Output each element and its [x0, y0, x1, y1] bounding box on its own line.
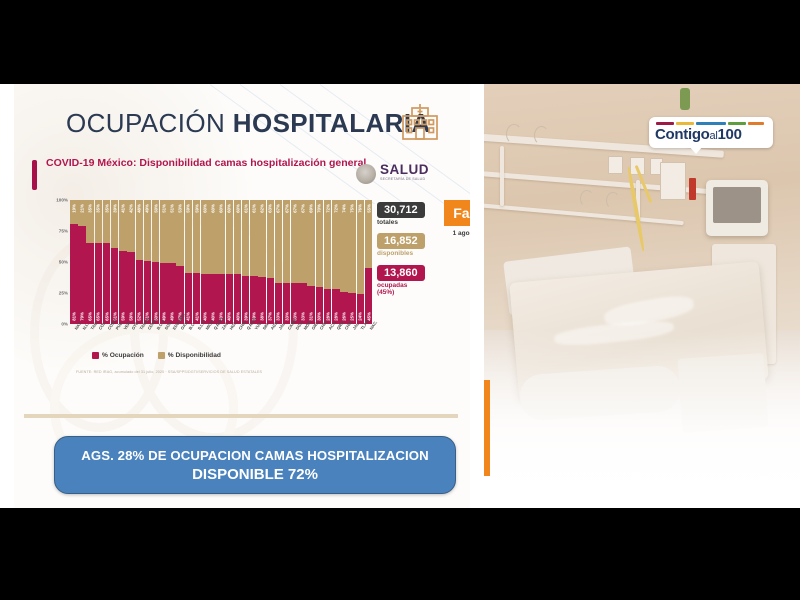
stat-value: 30,712	[377, 202, 425, 218]
bar-segment-disponibilidad: 70%	[316, 200, 324, 287]
bar-value-label: 79%	[79, 312, 84, 321]
bar-column: 70%30%	[316, 200, 324, 324]
bar-value-label: 51%	[161, 204, 166, 213]
bar-column: 59%41%	[185, 200, 193, 324]
bar-value-label: 70%	[317, 204, 322, 213]
bar-segment-disponibilidad: 63%	[267, 200, 275, 278]
bar-value-label: 53%	[178, 204, 183, 213]
bar-column: 67%33%	[283, 200, 291, 324]
bar-value-label: 42%	[129, 204, 134, 213]
chart-source: FUENTE: RED IRAG, acumulado del 31 julio…	[76, 370, 262, 374]
salud-logo-sub: SECRETARÍA DE SALUD	[380, 177, 425, 181]
bar-segment-disponibilidad: 42%	[127, 200, 135, 252]
bar-segment-disponibilidad: 59%	[193, 200, 201, 273]
x-axis-tick: AGS.	[267, 326, 275, 356]
bar-column: 60%40%	[234, 200, 242, 324]
bar-segment-ocupacion: 52%	[136, 260, 144, 324]
chart-subtitle: COVID-19 México: Disponibilidad camas ho…	[46, 156, 376, 170]
stat-item: 13,860ocupadas (45%)	[377, 263, 451, 297]
x-axis-tick: JAL.	[275, 326, 283, 356]
x-axis-tick: DGO.	[291, 326, 299, 356]
legend-label: % Ocupación	[102, 352, 144, 359]
logo-color-dashes	[656, 122, 766, 125]
page-title-light: OCUPACIÓN	[66, 108, 233, 138]
bar-value-label: 59%	[194, 204, 199, 213]
bar-column: 60%40%	[226, 200, 234, 324]
bar-value-label: 72%	[333, 204, 338, 213]
bar-column: 67%33%	[299, 200, 307, 324]
wall-outlet	[608, 156, 623, 174]
bar-column: 69%31%	[307, 200, 315, 324]
iv-hook-icon	[506, 124, 522, 144]
patient-monitor	[706, 180, 768, 236]
x-axis-tick: CHIS.	[234, 326, 242, 356]
bar-segment-disponibilidad: 50%	[152, 200, 160, 262]
bar-value-label: 72%	[325, 204, 330, 213]
bar-column: 41%59%	[119, 200, 127, 324]
bar-column: 19%81%	[70, 200, 78, 324]
bar-segment-ocupacion: 59%	[119, 251, 127, 324]
bar-segment-disponibilidad: 61%	[250, 200, 258, 276]
bar-value-label: 33%	[276, 312, 281, 321]
bar-column: 59%41%	[193, 200, 201, 324]
bar-column: 35%65%	[103, 200, 111, 324]
vertical-pole	[500, 146, 504, 206]
bar-value-label: 39%	[112, 204, 117, 213]
banner-line-1: AGS. 28% DE OCUPACION CAMAS HOSPITALIZAC…	[81, 448, 428, 463]
chart-card: COVID-19 México: Disponibilidad camas ho…	[32, 156, 456, 414]
bar-segment-ocupacion: 40%	[234, 274, 242, 324]
bar-segment-ocupacion: 40%	[209, 274, 217, 324]
bar-segment-disponibilidad: 59%	[185, 200, 193, 273]
bar-column: 39%61%	[111, 200, 119, 324]
stats-block: 30,712totales16,852disponibles13,860ocup…	[377, 200, 451, 302]
bar-segment-disponibilidad: 69%	[307, 200, 315, 286]
y-axis: 0%25%50%75%100%	[46, 200, 70, 324]
bar-segment-disponibilidad: 51%	[160, 200, 168, 263]
bar-segment-disponibilidad: 75%	[348, 200, 356, 293]
wall-panel	[660, 162, 686, 200]
bar-segment-ocupacion: 51%	[144, 261, 152, 324]
bar-value-label: 49%	[145, 204, 150, 213]
bar-column: 50%50%	[152, 200, 160, 324]
bar-segment-disponibilidad: 67%	[299, 200, 307, 283]
salud-logo-text: SALUD	[380, 162, 429, 177]
bar-segment-disponibilidad: 67%	[283, 200, 291, 283]
bar-segment-ocupacion: 39%	[242, 276, 250, 324]
page-title: OCUPACIÓN HOSPITALARIA	[66, 108, 431, 139]
bar-value-label: 65%	[88, 312, 93, 321]
bar-value-label: 74%	[341, 204, 346, 213]
bar-column: 35%65%	[86, 200, 94, 324]
bar-value-label: 40%	[227, 312, 232, 321]
bar-column: 55%45%	[365, 200, 373, 324]
bar-value-label: 67%	[292, 204, 297, 213]
bar-value-label: 60%	[219, 204, 224, 213]
logo-bubble-tail	[689, 146, 703, 154]
bar-value-label: 35%	[96, 204, 101, 213]
bar-segment-disponibilidad: 62%	[258, 200, 266, 277]
stat-caption: disponibles	[377, 250, 451, 257]
phase-block: Fase 3 1 agosto, 2020	[444, 200, 470, 237]
stat-value: 16,852	[377, 233, 425, 249]
x-axis-tick: Q.ROO	[242, 326, 250, 356]
iv-hook-icon-3	[580, 190, 594, 207]
logo-text-num: 100	[718, 126, 742, 143]
divider-line	[24, 414, 458, 418]
bar-value-label: 76%	[358, 204, 363, 213]
bar-value-label: 48%	[137, 204, 142, 213]
bar-value-label: 35%	[88, 204, 93, 213]
bar-segment-disponibilidad: 35%	[95, 200, 103, 243]
bar-value-label: 19%	[71, 204, 76, 213]
bar-column: 53%47%	[176, 200, 184, 324]
x-axis-tick: MOR.	[299, 326, 307, 356]
y-axis-tick: 0%	[61, 322, 68, 327]
bar-value-label: 67%	[301, 204, 306, 213]
bar-column: 75%25%	[348, 200, 356, 324]
bar-segment-ocupacion: 37%	[267, 278, 275, 324]
stat-value: 13,860	[377, 265, 425, 281]
bar-value-label: 65%	[96, 312, 101, 321]
presentation-slide: OCUPACIÓN HOSPITALARIA	[14, 84, 470, 508]
bar-column: 35%65%	[95, 200, 103, 324]
bar-column: 42%58%	[127, 200, 135, 324]
y-axis-tick: 100%	[56, 198, 68, 203]
bar-column: 48%52%	[136, 200, 144, 324]
x-axis-tick: ACA.	[324, 326, 332, 356]
bar-value-label: 21%	[79, 204, 84, 213]
bar-segment-ocupacion: 41%	[193, 273, 201, 324]
bar-value-label: 67%	[284, 204, 289, 213]
bar-segment-disponibilidad: 60%	[209, 200, 217, 274]
x-axis-tick: CAMP.	[283, 326, 291, 356]
bar-column: 60%40%	[201, 200, 209, 324]
bar-segment-ocupacion: 33%	[283, 283, 291, 324]
bar-segment-ocupacion: 40%	[226, 274, 234, 324]
bar-segment-ocupacion: 41%	[185, 273, 193, 324]
stat-item: 16,852disponibles	[377, 231, 451, 257]
bar-column: 76%24%	[357, 200, 365, 324]
bar-segment-ocupacion: 45%	[365, 268, 373, 324]
bar-value-label: 52%	[137, 312, 142, 321]
bar-segment-ocupacion: 38%	[258, 277, 266, 324]
bar-segment-disponibilidad: 72%	[324, 200, 332, 289]
bar-column: 63%37%	[267, 200, 275, 324]
bar-segment-ocupacion: 79%	[78, 226, 86, 324]
logo-dash	[728, 122, 746, 125]
bar-column: 51%49%	[160, 200, 168, 324]
bar-segment-disponibilidad: 76%	[357, 200, 365, 294]
hospital-room-photo: Contigoal100	[484, 84, 800, 508]
bar-value-label: 75%	[350, 204, 355, 213]
legend-swatch	[92, 352, 99, 359]
bar-value-label: 58%	[129, 312, 134, 321]
bar-value-label: 24%	[358, 312, 363, 321]
salud-logo: SALUD SECRETARÍA DE SALUD	[356, 162, 456, 188]
bar-segment-ocupacion: 40%	[201, 274, 209, 324]
x-axis-tick: TLAX.	[357, 326, 365, 356]
bar-value-label: 69%	[309, 204, 314, 213]
bars-container: 19%81%21%79%35%65%35%65%35%65%39%61%41%5…	[70, 200, 372, 324]
legend-item: % Ocupación	[92, 352, 144, 359]
x-axis-tick: QRO.	[332, 326, 340, 356]
bar-segment-disponibilidad: 51%	[168, 200, 176, 263]
x-axis-tick: HGO.	[226, 326, 234, 356]
stat-caption: ocupadas (45%)	[377, 282, 451, 297]
bar-column: 62%38%	[258, 200, 266, 324]
bar-segment-ocupacion: 33%	[275, 283, 283, 324]
photo-fade	[484, 330, 800, 508]
contigo-al-100-logo: Contigoal100	[649, 117, 773, 153]
bar-value-label: 33%	[284, 312, 289, 321]
logo-dash	[748, 122, 764, 125]
emergency-valve	[689, 178, 696, 200]
phase-date: 1 agosto, 2020	[444, 230, 470, 237]
bar-segment-ocupacion: 58%	[127, 252, 135, 324]
bar-value-label: 60%	[202, 204, 207, 213]
bar-segment-ocupacion: 24%	[357, 294, 365, 324]
bar-segment-disponibilidad: 60%	[226, 200, 234, 274]
video-frame: OCUPACIÓN HOSPITALARIA	[0, 0, 800, 600]
bar-segment-ocupacion: 50%	[152, 262, 160, 324]
bar-column: 72%28%	[332, 200, 340, 324]
bar-value-label: 61%	[243, 204, 248, 213]
orange-accent-strip	[484, 380, 490, 476]
content-band: OCUPACIÓN HOSPITALARIA	[0, 84, 800, 508]
bar-column: 67%33%	[291, 200, 299, 324]
bar-column: 72%28%	[324, 200, 332, 324]
x-axis-tick: YUC.	[250, 326, 258, 356]
iv-hook-icon-2	[534, 126, 549, 145]
x-axis-tick: N.L.	[78, 326, 86, 356]
bar-column: 51%49%	[168, 200, 176, 324]
bar-column: 61%39%	[250, 200, 258, 324]
mexico-eagle-seal-icon	[356, 164, 376, 184]
x-axis-tick: NAC.	[365, 326, 373, 356]
bar-value-label: 67%	[276, 204, 281, 213]
bar-segment-disponibilidad: 67%	[291, 200, 299, 283]
logo-text: Contigoal100	[655, 126, 742, 143]
logo-dash	[676, 122, 694, 125]
bar-column: 60%40%	[217, 200, 225, 324]
bar-value-label: 38%	[260, 312, 265, 321]
bar-segment-ocupacion: 81%	[70, 224, 78, 324]
logo-dash	[696, 122, 726, 125]
accent-bar	[32, 160, 37, 190]
bar-value-label: 51%	[170, 204, 175, 213]
y-axis-tick: 50%	[59, 260, 68, 265]
x-axis-tick: CHIS	[340, 326, 348, 356]
bar-segment-disponibilidad: 41%	[119, 200, 127, 251]
stat-item: 30,712totales	[377, 200, 451, 226]
bar-segment-disponibilidad: 60%	[201, 200, 209, 274]
bar-value-label: 60%	[235, 204, 240, 213]
bar-column: 60%40%	[209, 200, 217, 324]
bar-column: 74%26%	[340, 200, 348, 324]
bar-value-label: 61%	[251, 204, 256, 213]
bar-value-label: 35%	[104, 204, 109, 213]
bar-segment-ocupacion: 65%	[95, 243, 103, 324]
bar-segment-disponibilidad: 53%	[176, 200, 184, 266]
bar-value-label: 41%	[194, 312, 199, 321]
phase-badge: Fase 3	[444, 200, 470, 226]
legend-item: % Disponibilidad	[158, 352, 221, 359]
bar-value-label: 55%	[366, 204, 371, 213]
logo-text-main: Contigo	[655, 126, 710, 143]
bar-value-label: 81%	[71, 312, 76, 321]
green-equipment	[680, 88, 690, 110]
bar-column: 49%51%	[144, 200, 152, 324]
bar-segment-disponibilidad: 74%	[340, 200, 348, 292]
bar-segment-disponibilidad: 67%	[275, 200, 283, 283]
bar-value-label: 59%	[120, 312, 125, 321]
bar-value-label: 37%	[268, 312, 273, 321]
logo-text-al: al	[710, 130, 718, 142]
legend-label: % Disponibilidad	[168, 352, 221, 359]
bar-value-label: 50%	[153, 204, 158, 213]
lower-third-banner: AGS. 28% DE OCUPACION CAMAS HOSPITALIZAC…	[54, 436, 456, 494]
bar-segment-disponibilidad: 48%	[136, 200, 144, 260]
y-axis-tick: 75%	[59, 229, 68, 234]
bar-segment-disponibilidad: 72%	[332, 200, 340, 289]
bar-segment-ocupacion: 30%	[316, 287, 324, 324]
iv-hook-icon-4	[606, 192, 620, 209]
bar-segment-disponibilidad: 35%	[103, 200, 111, 243]
x-axis-tick: NAY.	[70, 326, 78, 356]
logo-dash	[656, 122, 674, 125]
bar-segment-disponibilidad: 61%	[242, 200, 250, 276]
bar-segment-disponibilidad: 60%	[217, 200, 225, 274]
bar-segment-ocupacion: 65%	[86, 243, 94, 324]
bar-value-label: 60%	[210, 204, 215, 213]
x-axis-tick: SIN.	[258, 326, 266, 356]
banner-line-2: DISPONIBLE 72%	[192, 466, 318, 483]
x-axis-tick: GRO.	[307, 326, 315, 356]
bar-segment-ocupacion: 61%	[111, 248, 119, 324]
bar-segment-disponibilidad: 49%	[144, 200, 152, 261]
hospital-building-icon	[399, 102, 441, 142]
bar-segment-ocupacion: 33%	[299, 283, 307, 324]
bar-segment-disponibilidad: 39%	[111, 200, 119, 248]
bar-segment-disponibilidad: 19%	[70, 200, 78, 224]
bar-value-label: 63%	[268, 204, 273, 213]
bar-segment-ocupacion: 65%	[103, 243, 111, 324]
y-axis-tick: 25%	[59, 291, 68, 296]
bar-value-label: 59%	[186, 204, 191, 213]
stacked-bar-chart: 0%25%50%75%100% 19%81%21%79%35%65%35%65%…	[46, 200, 372, 340]
stat-caption: totales	[377, 219, 451, 226]
monitor-screen	[713, 187, 761, 223]
bar-segment-ocupacion: 49%	[168, 263, 176, 324]
legend-swatch	[158, 352, 165, 359]
bar-segment-ocupacion: 49%	[160, 263, 168, 324]
bar-value-label: 60%	[227, 204, 232, 213]
bar-column: 21%79%	[78, 200, 86, 324]
bar-column: 61%39%	[242, 200, 250, 324]
bar-value-label: 65%	[104, 312, 109, 321]
bar-value-label: 41%	[120, 204, 125, 213]
chart-legend: % Ocupación% Disponibilidad	[92, 352, 221, 359]
bar-segment-disponibilidad: 21%	[78, 200, 86, 226]
x-axis-tick: JAL	[348, 326, 356, 356]
bar-column: 67%33%	[275, 200, 283, 324]
bar-segment-disponibilidad: 60%	[234, 200, 242, 274]
bar-segment-disponibilidad: 55%	[365, 200, 373, 268]
bar-value-label: 62%	[260, 204, 265, 213]
x-axis-tick: CHIH.	[316, 326, 324, 356]
bar-segment-disponibilidad: 35%	[86, 200, 94, 243]
